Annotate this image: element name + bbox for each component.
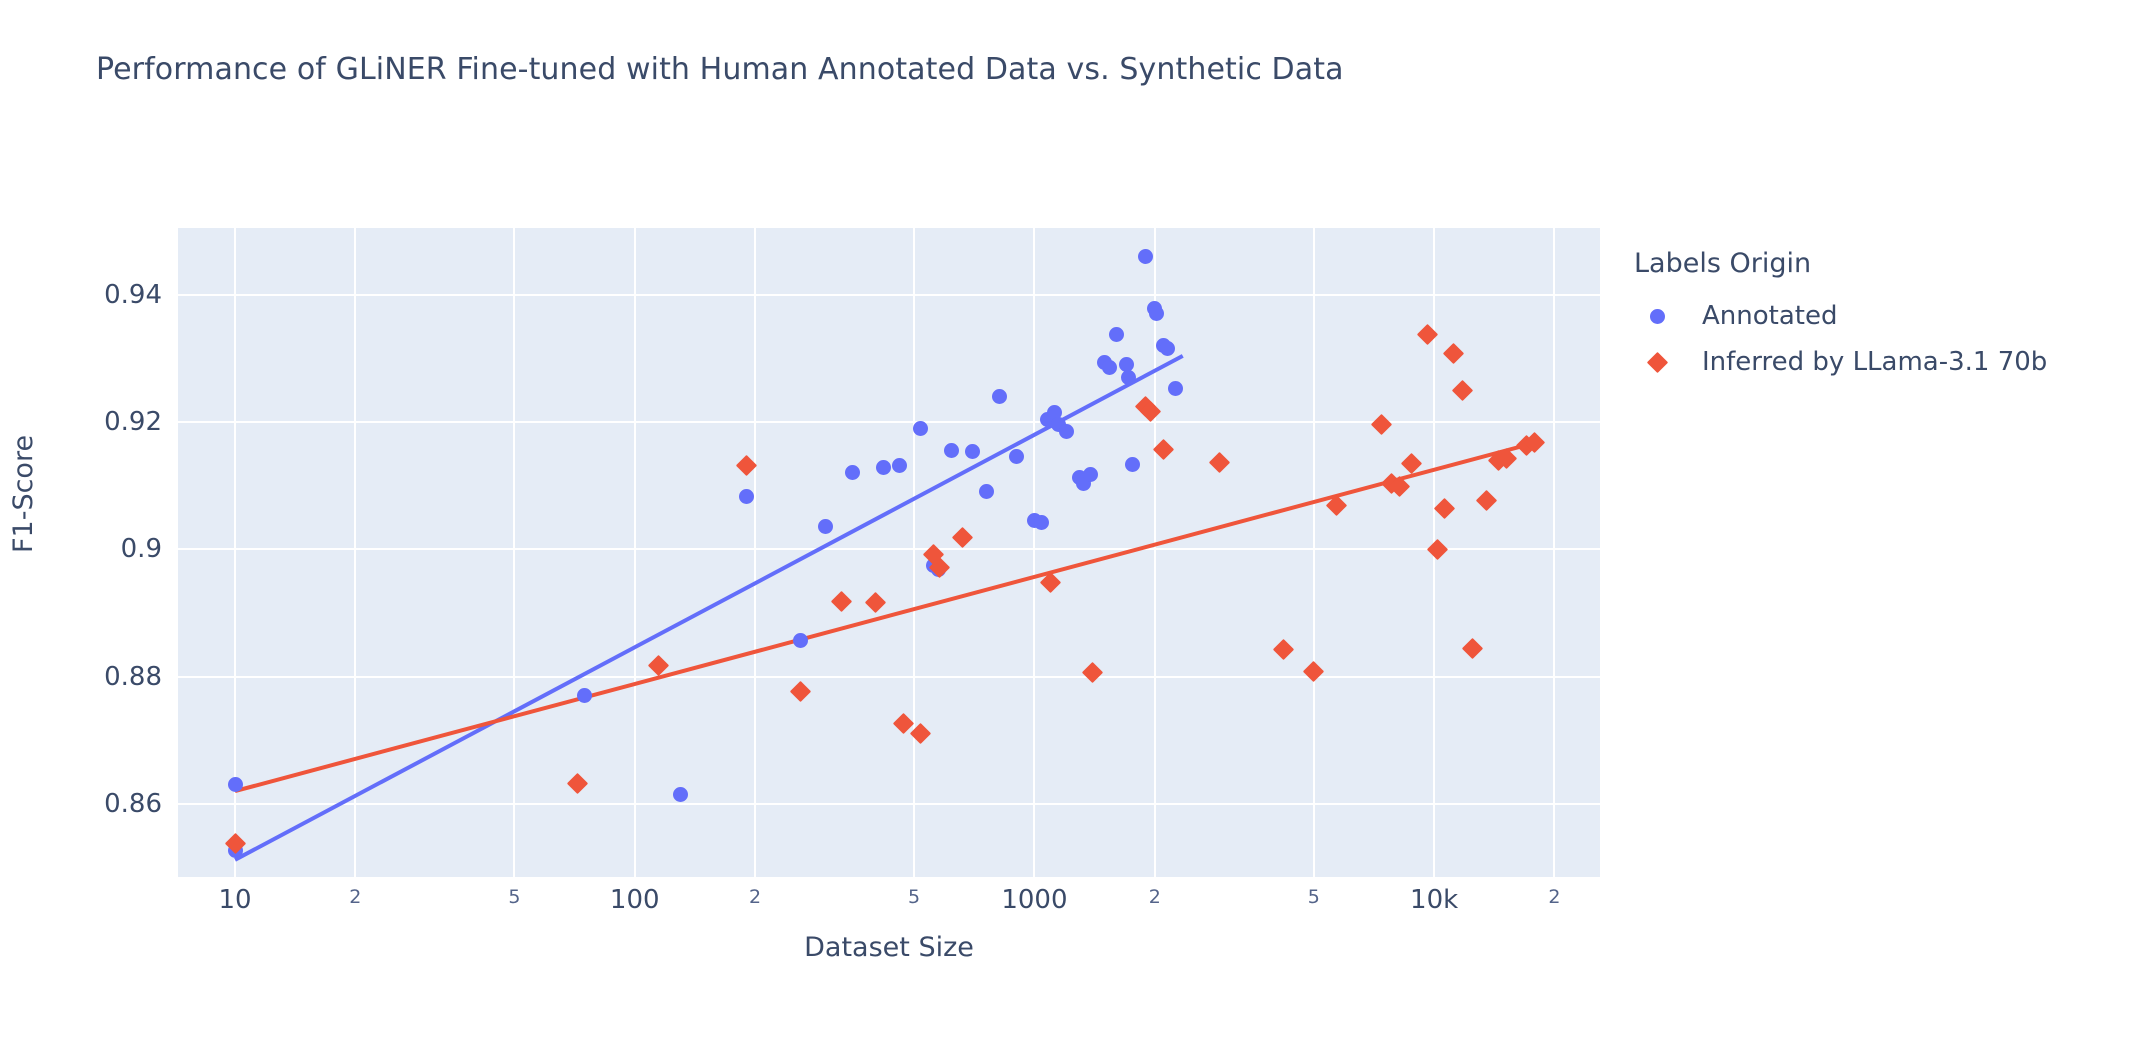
x-tick-label-minor: 2 bbox=[349, 886, 361, 908]
y-tick-label: 0.92 bbox=[104, 407, 162, 437]
legend-item-label: Annotated bbox=[1702, 301, 1837, 331]
scatter-point[interactable] bbox=[1102, 360, 1117, 375]
y-tick-label: 0.86 bbox=[104, 789, 162, 819]
scatter-point[interactable] bbox=[1443, 343, 1464, 364]
scatter-point[interactable] bbox=[944, 443, 959, 458]
circle-marker-icon bbox=[1634, 309, 1680, 324]
y-tick-label: 0.9 bbox=[121, 534, 162, 564]
scatter-point[interactable] bbox=[793, 633, 808, 648]
scatter-point[interactable] bbox=[739, 489, 754, 504]
y-tick-label: 0.88 bbox=[104, 662, 162, 692]
scatter-point[interactable] bbox=[1009, 449, 1024, 464]
scatter-point[interactable] bbox=[1082, 662, 1103, 683]
scatter-point[interactable] bbox=[1326, 495, 1347, 516]
scatter-point[interactable] bbox=[1434, 498, 1455, 519]
scatter-point[interactable] bbox=[892, 458, 907, 473]
scatter-point[interactable] bbox=[790, 681, 811, 702]
scatter-point[interactable] bbox=[1168, 381, 1183, 396]
y-axis-title: F1-Score bbox=[8, 435, 39, 553]
scatter-point[interactable] bbox=[965, 444, 980, 459]
scatter-point[interactable] bbox=[1149, 306, 1164, 321]
scatter-marker-layer bbox=[178, 228, 1600, 877]
scatter-point[interactable] bbox=[1109, 327, 1124, 342]
legend-title: Labels Origin bbox=[1634, 248, 2094, 279]
scatter-point[interactable] bbox=[845, 465, 860, 480]
plot-area bbox=[178, 228, 1600, 877]
scatter-point[interactable] bbox=[228, 777, 243, 792]
scatter-point[interactable] bbox=[567, 773, 588, 794]
x-tick-label-minor: 5 bbox=[908, 886, 920, 908]
diamond-marker-icon bbox=[1634, 355, 1680, 370]
scatter-point[interactable] bbox=[1153, 439, 1174, 460]
scatter-point[interactable] bbox=[1273, 639, 1294, 660]
legend-item[interactable]: Annotated bbox=[1634, 293, 2094, 339]
scatter-point[interactable] bbox=[979, 484, 994, 499]
scatter-point[interactable] bbox=[952, 527, 973, 548]
x-tick-label-minor: 2 bbox=[749, 886, 761, 908]
x-axis-title: Dataset Size bbox=[804, 932, 974, 963]
scatter-point[interactable] bbox=[831, 591, 852, 612]
x-tick-label: 10 bbox=[218, 885, 251, 915]
x-tick-label-minor: 5 bbox=[508, 886, 520, 908]
scatter-point[interactable] bbox=[992, 389, 1007, 404]
scatter-point[interactable] bbox=[876, 460, 891, 475]
scatter-point[interactable] bbox=[1416, 324, 1437, 345]
scatter-point[interactable] bbox=[1034, 515, 1049, 530]
scatter-point[interactable] bbox=[736, 455, 757, 476]
scatter-point[interactable] bbox=[673, 787, 688, 802]
scatter-point[interactable] bbox=[865, 592, 886, 613]
scatter-point[interactable] bbox=[1040, 572, 1061, 593]
scatter-point[interactable] bbox=[1083, 467, 1098, 482]
scatter-point[interactable] bbox=[1160, 341, 1175, 356]
scatter-point[interactable] bbox=[818, 519, 833, 534]
scatter-point[interactable] bbox=[913, 421, 928, 436]
x-tick-label: 100 bbox=[610, 885, 660, 915]
chart-figure: Performance of GLiNER Fine-tuned with Hu… bbox=[0, 0, 2142, 1042]
scatter-point[interactable] bbox=[910, 723, 931, 744]
x-tick-label-minor: 2 bbox=[1548, 886, 1560, 908]
x-tick-label-minor: 5 bbox=[1308, 886, 1320, 908]
legend-item-label: Inferred by LLama-3.1 70b bbox=[1702, 347, 2047, 377]
legend: Labels Origin AnnotatedInferred by LLama… bbox=[1634, 248, 2094, 385]
x-tick-label-minor: 2 bbox=[1149, 886, 1161, 908]
scatter-point[interactable] bbox=[648, 655, 669, 676]
scatter-point[interactable] bbox=[1452, 380, 1473, 401]
scatter-point[interactable] bbox=[577, 688, 592, 703]
scatter-point[interactable] bbox=[1138, 249, 1153, 264]
scatter-point[interactable] bbox=[1427, 539, 1448, 560]
scatter-point[interactable] bbox=[1401, 453, 1422, 474]
scatter-point[interactable] bbox=[1303, 661, 1324, 682]
scatter-point[interactable] bbox=[1476, 490, 1497, 511]
legend-item[interactable]: Inferred by LLama-3.1 70b bbox=[1634, 339, 2094, 385]
scatter-point[interactable] bbox=[1121, 370, 1136, 385]
scatter-point[interactable] bbox=[1462, 638, 1483, 659]
x-tick-label: 1000 bbox=[1001, 885, 1067, 915]
scatter-point[interactable] bbox=[1125, 457, 1140, 472]
chart-title: Performance of GLiNER Fine-tuned with Hu… bbox=[96, 52, 1344, 87]
x-tick-label: 10k bbox=[1410, 885, 1458, 915]
scatter-point[interactable] bbox=[1371, 414, 1392, 435]
y-tick-label: 0.94 bbox=[104, 280, 162, 310]
scatter-point[interactable] bbox=[1059, 424, 1074, 439]
scatter-point[interactable] bbox=[1209, 452, 1230, 473]
legend-items: AnnotatedInferred by LLama-3.1 70b bbox=[1634, 293, 2094, 385]
